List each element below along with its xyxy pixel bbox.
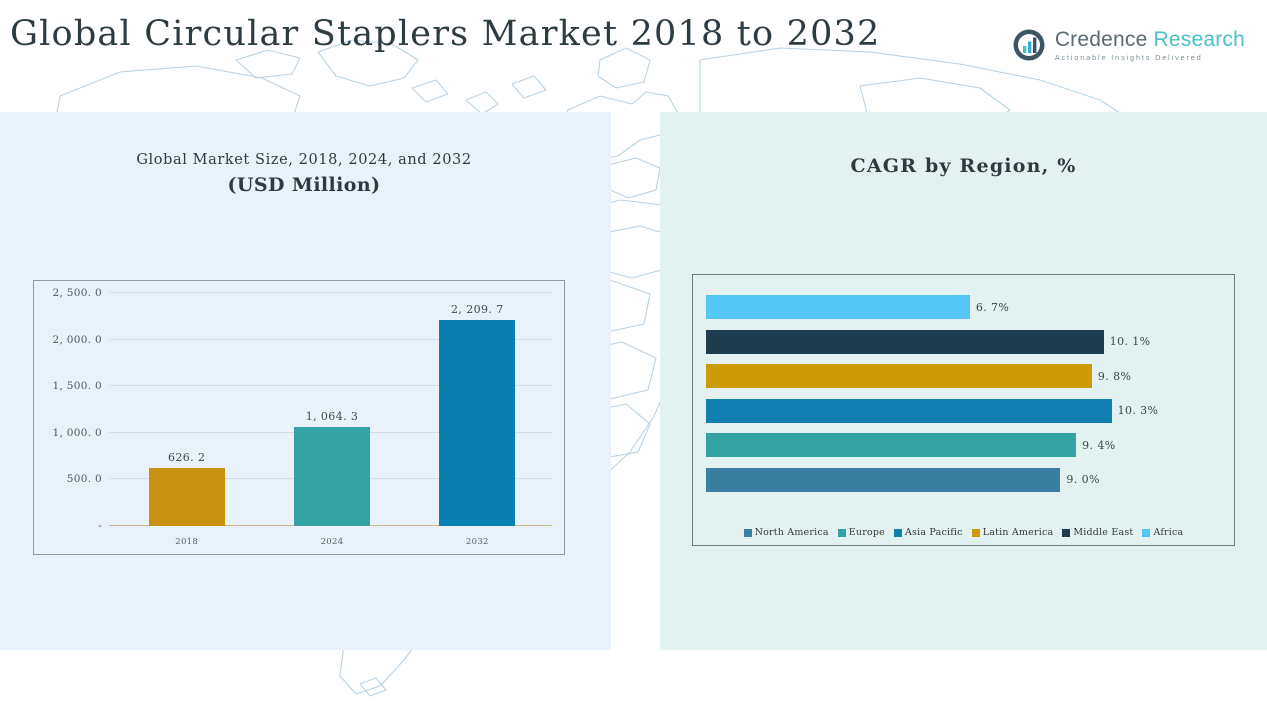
left-chart-plot-area: -500. 01, 000. 01, 500. 02, 000. 02, 500… [34, 281, 564, 554]
logo-name-second: Research [1154, 28, 1245, 51]
legend-item[interactable]: Latin America [972, 527, 1054, 538]
bar-row: 9. 4% [706, 433, 1116, 457]
bar-value-label: 626. 2 [127, 451, 247, 464]
logo-tagline: Actionable Insights Delivered [1055, 54, 1245, 61]
logo-name: Credence Research [1055, 29, 1245, 50]
x-axis-tick-label: 2018 [127, 537, 247, 547]
bar [706, 330, 1104, 354]
bar-value-label: 10. 1% [1110, 335, 1151, 348]
bar [149, 468, 225, 526]
bar-value-label: 9. 0% [1066, 473, 1099, 486]
legend-item[interactable]: Middle East [1062, 527, 1133, 538]
bar [706, 295, 970, 319]
left-chart-subtitle: (USD Million) [0, 174, 608, 196]
bar-row: 9. 8% [706, 364, 1131, 388]
bar-value-label: 2, 209. 7 [417, 303, 537, 316]
bar [706, 364, 1092, 388]
header: Global Circular Staplers Market 2018 to … [0, 0, 1267, 112]
legend-swatch-icon [894, 529, 902, 537]
bar-group: 626. 22018 [149, 468, 225, 526]
legend-item[interactable]: Africa [1142, 527, 1183, 538]
legend-swatch-icon [838, 529, 846, 537]
global-market-size-bar-chart: -500. 01, 000. 01, 500. 02, 000. 02, 500… [33, 280, 565, 555]
bar-chart-circle-icon [1011, 27, 1047, 63]
bar [706, 433, 1076, 457]
legend-label: North America [755, 527, 829, 538]
legend-item[interactable]: Europe [838, 527, 885, 538]
bar-value-label: 1, 064. 3 [272, 410, 392, 423]
x-axis-tick-label: 2032 [417, 537, 537, 547]
bar-row: 9. 0% [706, 468, 1100, 492]
legend-label: Europe [849, 527, 885, 538]
credence-research-logo: Credence Research Actionable Insights De… [1011, 27, 1245, 63]
bar-row: 10. 1% [706, 330, 1151, 354]
y-axis-tick-label: 2, 000. 0 [42, 334, 102, 346]
legend-item[interactable]: Asia Pacific [894, 527, 963, 538]
chart-legend: North AmericaEuropeAsia PacificLatin Ame… [693, 527, 1234, 538]
legend-label: Latin America [983, 527, 1054, 538]
cagr-by-region-bar-chart: 6. 7%10. 1%9. 8%10. 3%9. 4%9. 0% North A… [692, 274, 1235, 546]
legend-swatch-icon [1062, 529, 1070, 537]
legend-label: Asia Pacific [905, 527, 963, 538]
bar-row: 6. 7% [706, 295, 1009, 319]
logo-name-first: Credence [1055, 28, 1148, 51]
y-axis-tick-label: 1, 000. 0 [42, 427, 102, 439]
bar-value-label: 9. 8% [1098, 370, 1131, 383]
gridline [109, 292, 552, 293]
bar-value-label: 6. 7% [976, 301, 1009, 314]
page-title: Global Circular Staplers Market 2018 to … [10, 14, 881, 54]
left-chart-title: Global Market Size, 2018, 2024, and 2032 [0, 152, 608, 168]
y-axis-tick-label: 1, 500. 0 [42, 380, 102, 392]
legend-swatch-icon [744, 529, 752, 537]
bar [294, 427, 370, 526]
legend-label: Africa [1153, 527, 1183, 538]
logo-text: Credence Research Actionable Insights De… [1055, 29, 1245, 61]
bar-value-label: 10. 3% [1118, 404, 1159, 417]
bar-group: 2, 209. 72032 [439, 320, 515, 526]
bar [706, 468, 1060, 492]
bar [706, 399, 1112, 423]
legend-item[interactable]: North America [744, 527, 829, 538]
y-axis-tick-label: 2, 500. 0 [42, 287, 102, 299]
bar-value-label: 9. 4% [1082, 439, 1115, 452]
legend-swatch-icon [1142, 529, 1150, 537]
y-axis-tick-label: - [42, 520, 102, 532]
bar-row: 10. 3% [706, 399, 1158, 423]
legend-swatch-icon [972, 529, 980, 537]
x-axis-tick-label: 2024 [272, 537, 392, 547]
bar-group: 1, 064. 32024 [294, 427, 370, 526]
y-axis-tick-label: 500. 0 [42, 473, 102, 485]
right-chart-title: CAGR by Region, % [660, 155, 1267, 177]
bar [439, 320, 515, 526]
legend-label: Middle East [1073, 527, 1133, 538]
